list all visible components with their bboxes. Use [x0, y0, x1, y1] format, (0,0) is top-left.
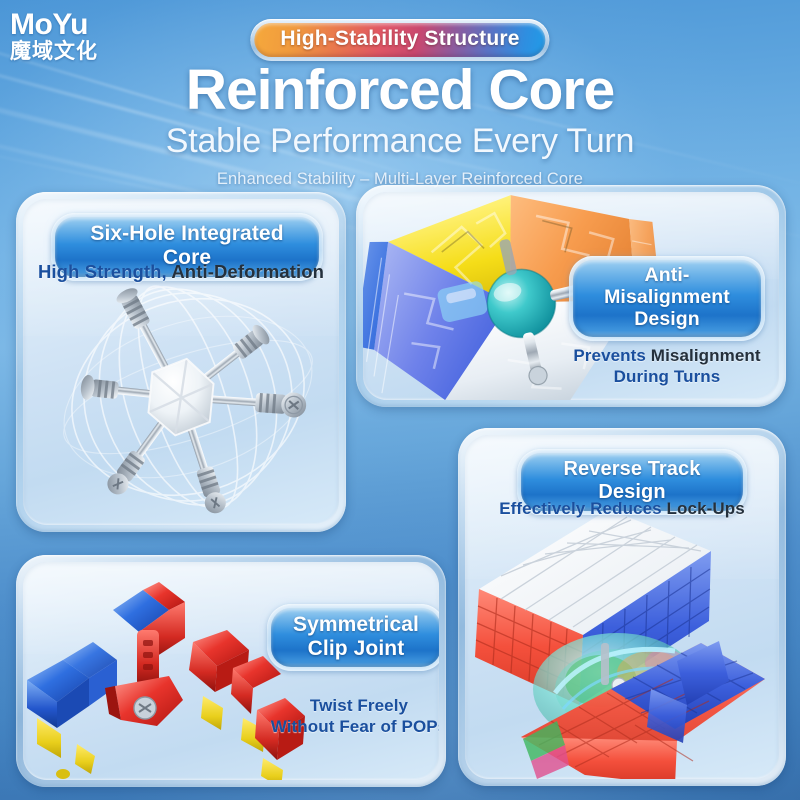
- card-description: Effectively Reduces Lock-Ups: [465, 499, 779, 520]
- brand-logo: MoYu 魔域文化: [10, 10, 126, 63]
- card-description-line2: During Turns: [551, 367, 779, 388]
- high-stability-badge: High-Stability Structure: [250, 19, 549, 61]
- card-badge-label-line1: Symmetrical: [291, 613, 421, 637]
- card-description-blue: Effectively Reduces: [499, 499, 662, 518]
- card-description-dark: Misalignment: [646, 346, 761, 365]
- brand-name-cn: 魔域文化: [10, 41, 126, 63]
- card-description-line1: Twist Freely: [261, 696, 439, 717]
- feature-card-anti-misalignment-design[interactable]: Anti-Misalignment Design Prevents Misali…: [356, 185, 786, 407]
- high-stability-badge-label: High-Stability Structure: [280, 27, 519, 50]
- six-hole-core-image: [23, 277, 339, 523]
- card-badge-label-line2: Design: [593, 309, 741, 331]
- card-description-dark: Lock-Ups: [662, 499, 745, 518]
- card-badge-label: Reverse Track Design: [541, 458, 723, 504]
- feature-card-six-hole-integrated-core[interactable]: Six-Hole Integrated Core High Strength, …: [16, 192, 346, 532]
- card-description-blue: Prevents: [573, 346, 646, 365]
- card-description-blue: High Strength,: [38, 261, 167, 282]
- card-description-line2: Without Fear of POPs: [261, 717, 439, 738]
- feature-card-symmetrical-clip-joint[interactable]: Symmetrical Clip Joint Twist Freely With…: [16, 555, 446, 787]
- stickerless-cube-split-image: [465, 493, 779, 779]
- page-title: Reinforced Core: [0, 62, 800, 119]
- card-badge-symmetrical-clip-joint: Symmetrical Clip Joint: [267, 604, 439, 671]
- card-badge-anti-misalignment-design: Anti-Misalignment Design: [569, 256, 765, 341]
- card-description-dark: Anti-Deformation: [167, 261, 324, 282]
- page-subtitle: Stable Performance Every Turn: [0, 122, 800, 161]
- card-description: High Strength, Anti-Deformation: [23, 261, 339, 284]
- exploded-cube-pieces-image: [23, 568, 317, 780]
- brand-name: MoYu: [10, 10, 126, 40]
- card-description: Prevents Misalignment During Turns: [551, 346, 779, 387]
- headline-block: Reinforced Core Stable Performance Every…: [0, 62, 800, 189]
- card-description: Twist Freely Without Fear of POPs: [261, 696, 439, 737]
- card-badge-label-line2: Clip Joint: [291, 637, 421, 661]
- feature-card-reverse-track-design[interactable]: Reverse Track Design Effectively Reduces…: [458, 428, 786, 786]
- card-badge-label-line1: Anti-Misalignment: [593, 265, 741, 309]
